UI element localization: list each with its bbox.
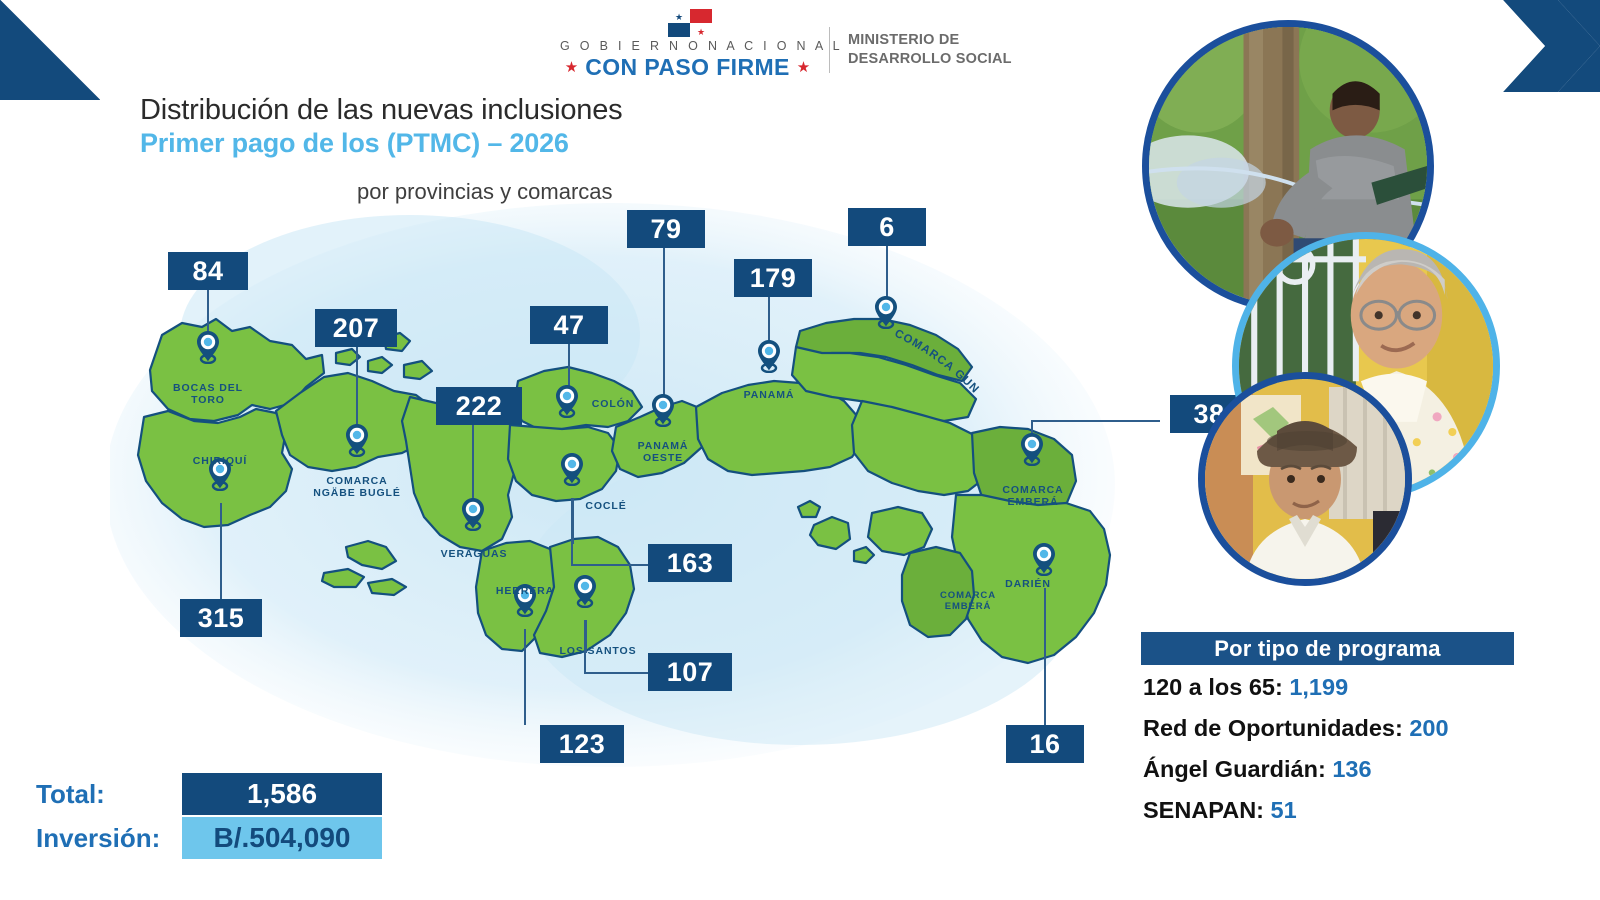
map-pin-embera[interactable] (1019, 432, 1045, 471)
panama-flag-icon: ★ ★ (668, 9, 712, 37)
logo-gobierno-nacional: ★ ★ G O B I E R N O N A C I O N A L ★ CO… (560, 19, 815, 81)
value-box-lossantos: 107 (648, 653, 732, 691)
value-box-herrera: 123 (540, 725, 624, 763)
map-pin-ngabe[interactable] (344, 423, 370, 462)
region-label-cocle: COCLÉ (575, 500, 637, 512)
value-box-colon: 47 (530, 306, 608, 344)
leader-line-chiriqui (220, 503, 222, 599)
program-row-2: Ángel Guardián: 136 (1143, 756, 1563, 783)
region-label-colon: COLÓN (583, 398, 643, 410)
map-pin-bocas[interactable] (195, 330, 221, 369)
region-label-embera: COMARCA EMBERÁ (985, 484, 1081, 509)
investment-row: Inversión: B/.504,090 (36, 816, 382, 860)
page-title-line-1: Distribución de las nuevas inclusiones (140, 94, 622, 127)
region-label-lossantos: LOS SANTOS (546, 645, 650, 657)
map-pin-cocle[interactable] (559, 452, 585, 491)
government-logo: ★ ★ G O B I E R N O N A C I O N A L ★ CO… (560, 14, 1030, 86)
region-label-ngabe: COMARCA NGÄBE BUGLÉ (308, 475, 406, 500)
program-label-0: 120 a los 65: (1143, 674, 1289, 700)
value-box-bocas: 84 (168, 252, 248, 290)
corner-triangle-top-left (0, 0, 100, 100)
map-pin-colon[interactable] (554, 384, 580, 423)
ministry-name: MINISTERIO DE DESARROLLO SOCIAL (848, 31, 1012, 69)
program-panel-list: 120 a los 65: 1,199Red de Oportunidades:… (1143, 674, 1563, 838)
value-box-ngabe: 207 (315, 309, 397, 347)
region-label-pmaoeste: PANAMÁ OESTE (617, 440, 709, 465)
map-pin-panama[interactable] (756, 339, 782, 378)
star-left-icon: ★ (565, 60, 578, 75)
investment-label: Inversión: (36, 823, 182, 854)
infographic-root: ★ ★ G O B I E R N O N A C I O N A L ★ CO… (0, 0, 1600, 900)
svg-text:★: ★ (697, 27, 705, 37)
program-label-2: Ángel Guardián: (1143, 756, 1332, 782)
program-value-0: 1,199 (1289, 674, 1348, 700)
totals-block: Total: 1,586 Inversión: B/.504,090 (36, 772, 382, 860)
investment-value: B/.504,090 (182, 817, 382, 859)
total-row: Total: 1,586 (36, 772, 382, 816)
star-right-icon: ★ (797, 60, 810, 75)
region-label-darien: DARIÉN (990, 578, 1066, 590)
total-label: Total: (36, 779, 182, 810)
panama-map: COMARCA GUNA YALA 84 BOCAS DEL TORO207 C… (110, 195, 1160, 785)
svg-text:★: ★ (675, 12, 683, 22)
map-pin-lossantos[interactable] (572, 574, 598, 613)
value-box-panama: 179 (734, 259, 812, 297)
program-value-3: 51 (1271, 797, 1297, 823)
region-label-bocas: BOCAS DEL TORO (160, 382, 256, 407)
region-label-veraguas: VERAGUAS (426, 548, 522, 560)
map-pin-veraguas[interactable] (460, 497, 486, 536)
page-title-line-2: Primer pago de los (PTMC) – 2026 (140, 128, 569, 159)
program-value-2: 136 (1332, 756, 1371, 782)
program-label-1: Red de Oportunidades: (1143, 715, 1409, 741)
program-row-0: 120 a los 65: 1,199 (1143, 674, 1563, 701)
map-pin-darien[interactable] (1031, 542, 1057, 581)
value-box-pmaoeste: 79 (627, 210, 705, 248)
program-label-3: SENAPAN: (1143, 797, 1271, 823)
value-box-darien: 16 (1006, 725, 1084, 763)
logo-gobierno-text: G O B I E R N O N A C I O N A L (560, 39, 815, 53)
program-row-1: Red de Oportunidades: 200 (1143, 715, 1563, 742)
value-box-gunayala: 6 (848, 208, 926, 246)
region-label-panama: PANAMÁ (723, 389, 815, 401)
ministry-line-2: DESARROLLO SOCIAL (848, 50, 1012, 69)
map-pin-gunayala[interactable] (873, 295, 899, 334)
value-box-cocle: 163 (648, 544, 732, 582)
leader-line-herrera (524, 629, 526, 725)
total-value: 1,586 (182, 773, 382, 815)
value-box-veraguas: 222 (436, 387, 522, 425)
logo-slogan-text: CON PASO FIRME (585, 54, 790, 81)
corner-chevron-top-right (1440, 0, 1600, 100)
program-row-3: SENAPAN: 51 (1143, 797, 1563, 824)
program-value-1: 200 (1409, 715, 1448, 741)
value-box-chiriqui: 315 (180, 599, 262, 637)
photo-elderly-man-hat (1198, 372, 1412, 586)
region-label-chiriqui: CHIRIQUÍ (172, 455, 268, 467)
region-label-herrera: HERRERA (480, 585, 570, 597)
leader-line-cocle (572, 498, 574, 544)
region-label-extra-0: COMARCA EMBERÁ (928, 590, 1008, 612)
ministry-line-1: MINISTERIO DE (848, 31, 1012, 50)
program-panel-header: Por tipo de programa (1141, 632, 1514, 665)
map-pin-pmaoeste[interactable] (650, 393, 676, 432)
leader-line-pmaoeste (663, 248, 665, 416)
leader-line-darien (1044, 588, 1046, 725)
